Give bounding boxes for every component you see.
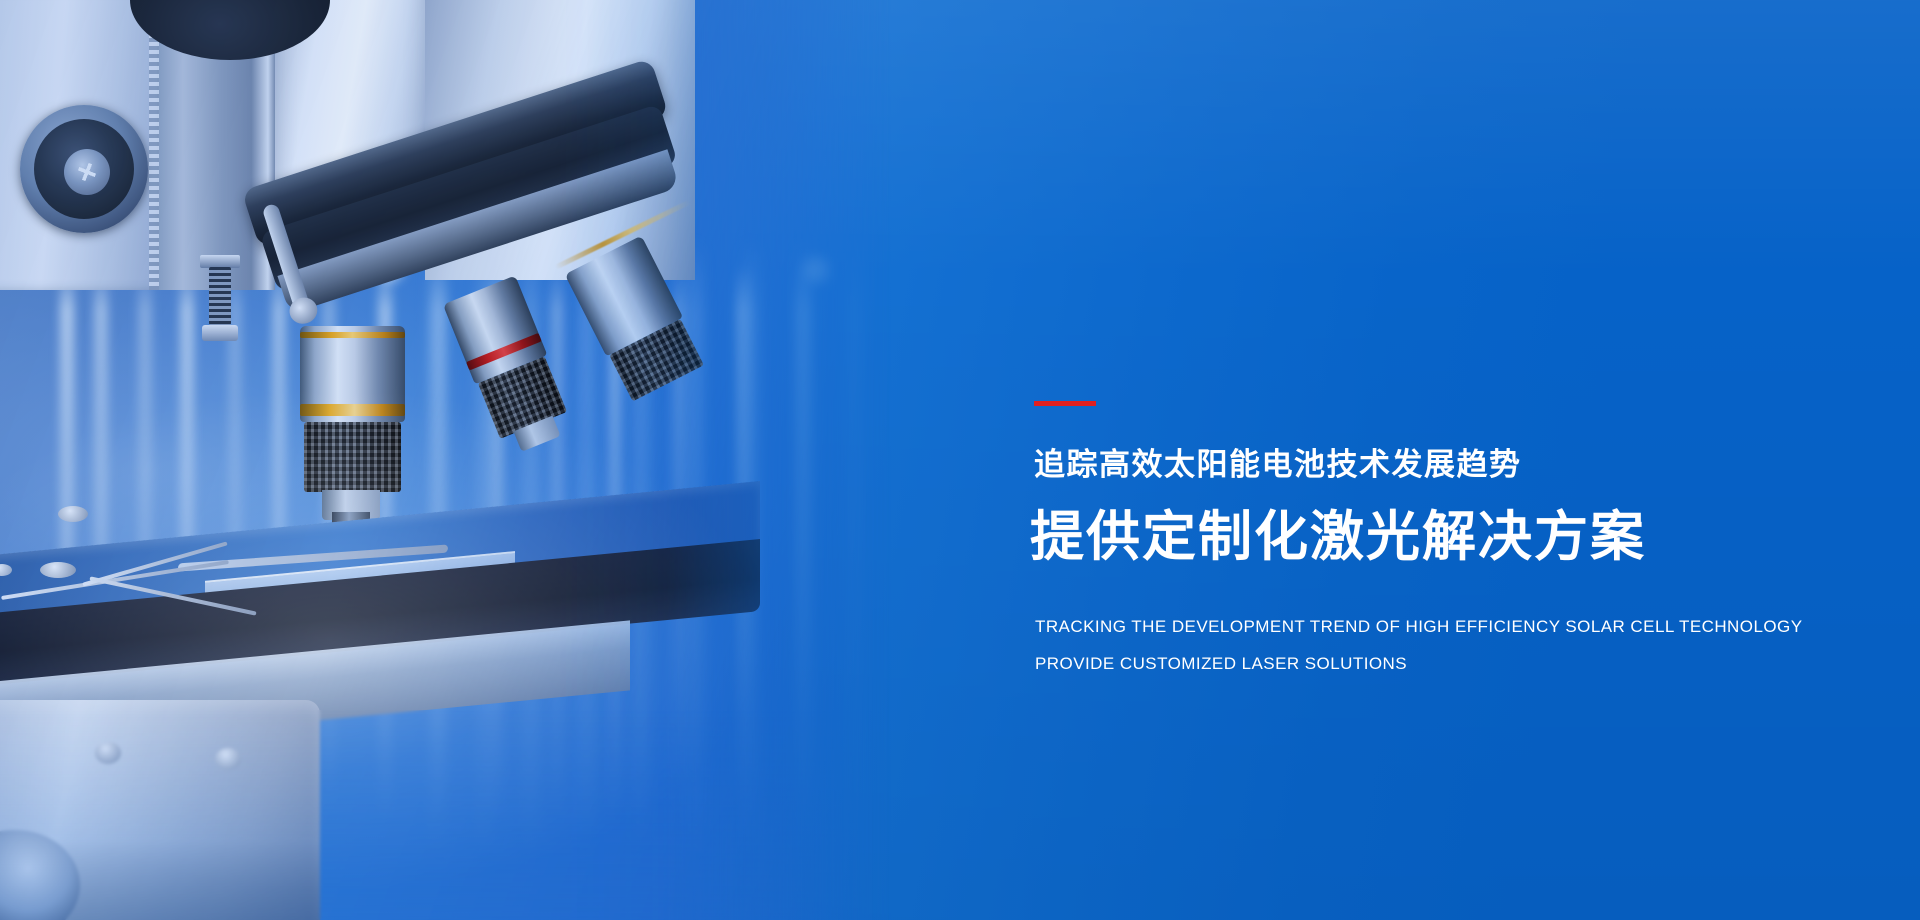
- hero-heading: 提供定制化激光解决方案: [1030, 504, 1646, 572]
- accent-rule: [1034, 401, 1096, 406]
- microscope-photo: [0, 0, 900, 920]
- hero-subheading: 追踪高效太阳能电池技术发展趋势: [1034, 446, 1522, 483]
- photo-depth-blur: [0, 710, 900, 920]
- hero-text-block: 追踪高效太阳能电池技术发展趋势 提供定制化激光解决方案 TRACKING THE…: [1034, 0, 1894, 920]
- hero-subtitle-line-1: TRACKING THE DEVELOPMENT TREND OF HIGH E…: [1035, 617, 1803, 637]
- hero-subtitle-line-2: PROVIDE CUSTOMIZED LASER SOLUTIONS: [1035, 654, 1407, 674]
- hero-banner: 追踪高效太阳能电池技术发展趋势 提供定制化激光解决方案 TRACKING THE…: [0, 0, 1920, 920]
